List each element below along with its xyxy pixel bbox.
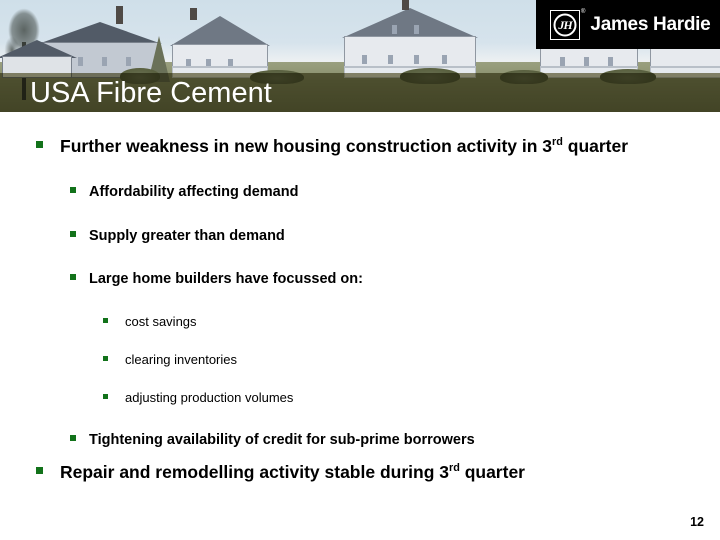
house-window (126, 57, 131, 66)
bullet-marker-icon (103, 394, 108, 399)
house-shape (344, 2, 476, 78)
bullet-text: Further weakness in new housing construc… (60, 136, 628, 157)
bullet-item: Large home builders have focussed on: (70, 271, 363, 287)
bullet-marker-icon (70, 274, 76, 280)
bullet-item: Supply greater than demand (70, 228, 285, 244)
house-window (102, 57, 107, 66)
bullet-text: cost savings (125, 314, 197, 329)
house-window (392, 25, 397, 34)
bullet-text: Repair and remodelling activity stable d… (60, 462, 525, 483)
bullet-marker-icon (70, 187, 76, 193)
logo-wordmark: James Hardie (590, 14, 710, 36)
bullet-marker-icon (103, 356, 108, 361)
bullet-marker-icon (36, 467, 43, 474)
house-window (560, 57, 565, 66)
bullet-item: cost savings (103, 314, 197, 329)
house-window (388, 55, 393, 64)
house-window (414, 55, 419, 64)
page-number: 12 (690, 515, 704, 529)
bullet-text: clearing inventories (125, 352, 237, 367)
house-chimney (190, 8, 197, 20)
bullet-marker-icon (70, 435, 76, 441)
bullet-item: Repair and remodelling activity stable d… (36, 462, 525, 483)
ordinal-suffix: rd (449, 462, 460, 474)
bullet-marker-icon (70, 231, 76, 237)
bullet-item: clearing inventories (103, 352, 237, 367)
house-window (362, 55, 367, 64)
house-window (78, 57, 83, 66)
bullet-item: Tightening availability of credit for su… (70, 432, 475, 448)
house-chimney (116, 6, 123, 24)
bullet-text: Affordability affecting demand (89, 184, 298, 200)
bullet-item: Further weakness in new housing construc… (36, 136, 628, 157)
bullet-item: Affordability affecting demand (70, 184, 298, 200)
house-roof (170, 16, 270, 46)
bullet-text: adjusting production volumes (125, 390, 293, 405)
page-title: USA Fibre Cement (30, 76, 272, 110)
house-window (414, 25, 419, 34)
house-chimney (402, 0, 409, 10)
house-window (442, 55, 447, 64)
james-hardie-logo: JH ® James Hardie (536, 0, 720, 49)
bullet-text: Tightening availability of credit for su… (89, 432, 475, 448)
registered-trademark-icon: ® (581, 9, 585, 15)
bullet-marker-icon (103, 318, 108, 323)
slide-body: Further weakness in new housing construc… (0, 112, 720, 512)
jh-monogram-icon: JH (550, 10, 580, 40)
house-roof (342, 8, 478, 38)
bullet-marker-icon (36, 141, 43, 148)
logo-monogram-text: JH (551, 11, 579, 39)
bullet-text: Large home builders have focussed on: (89, 271, 363, 287)
bullet-item: adjusting production volumes (103, 390, 293, 405)
bullet-text: Supply greater than demand (89, 228, 285, 244)
house-window (584, 57, 589, 66)
ordinal-suffix: rd (552, 136, 563, 148)
house-shape (172, 12, 268, 78)
house-window (608, 57, 613, 66)
house-shape (2, 32, 72, 78)
